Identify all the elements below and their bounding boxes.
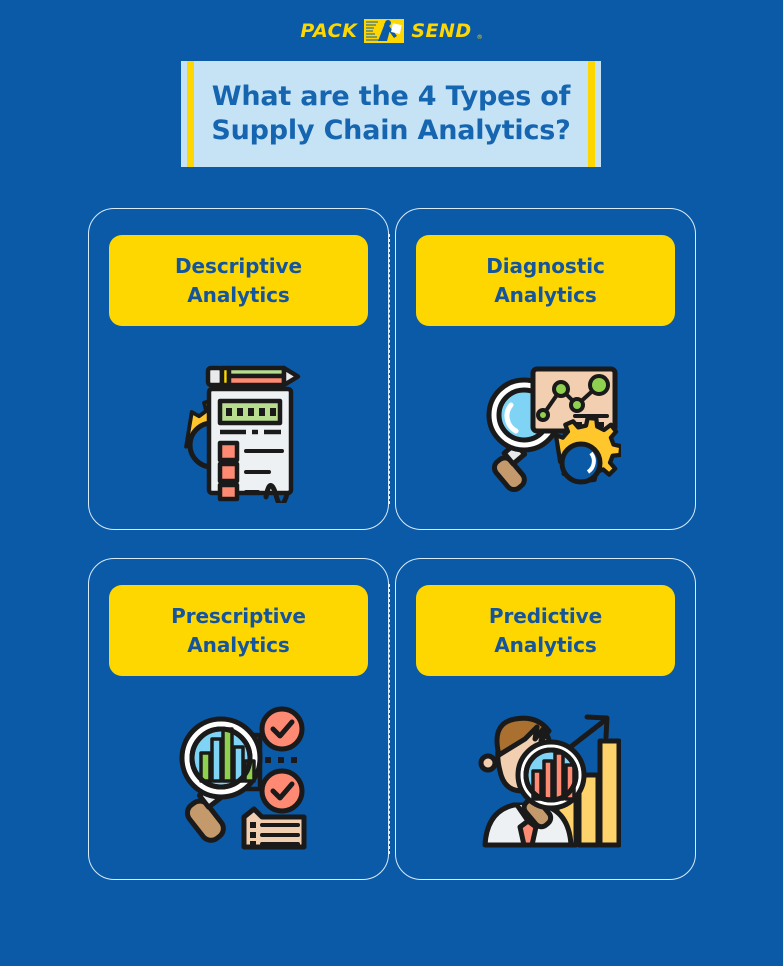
card-prescriptive[interactable]: Prescriptive Analytics (88, 558, 389, 880)
card-divider-top (389, 234, 390, 504)
label-line-1: Diagnostic (486, 254, 604, 278)
card-label-prescriptive: Prescriptive Analytics (109, 585, 368, 676)
businessman-magnifier-growth-chart-icon (471, 703, 621, 853)
magnifier-line-chart-gear-icon (471, 353, 621, 503)
analytics-card-grid: Descriptive Analytics (88, 208, 696, 880)
magnifier-bar-chart-checkmarks-list-icon (164, 703, 314, 853)
icon-area-descriptive (89, 326, 388, 529)
title-line-2: Supply Chain Analytics? (211, 115, 570, 146)
registered-trademark-mark: ® (477, 34, 483, 41)
card-predictive[interactable]: Predictive Analytics (395, 558, 696, 880)
card-label-descriptive: Descriptive Analytics (109, 235, 368, 326)
logo-word-pack: PACK (300, 20, 357, 42)
page-title: What are the 4 Types of Supply Chain Ana… (189, 80, 592, 148)
label-line-2: Analytics (187, 283, 289, 307)
card-label-diagnostic: Diagnostic Analytics (416, 235, 675, 326)
label-line-1: Prescriptive (171, 604, 306, 628)
title-banner: What are the 4 Types of Supply Chain Ana… (181, 61, 601, 167)
label-line-2: Analytics (494, 633, 596, 657)
pack-send-logo[interactable]: PACK SEND ® (300, 18, 482, 44)
label-line-1: Predictive (489, 604, 602, 628)
title-line-1: What are the 4 Types of (212, 81, 570, 112)
label-line-1: Descriptive (175, 254, 302, 278)
infographic-page: { "brand": { "word_left": "PACK", "word_… (0, 0, 783, 966)
label-line-2: Analytics (187, 633, 289, 657)
card-diagnostic[interactable]: Diagnostic Analytics (395, 208, 696, 530)
card-label-predictive: Predictive Analytics (416, 585, 675, 676)
card-divider-bottom (389, 584, 390, 854)
card-row-bottom: Prescriptive Analytics (88, 558, 696, 880)
label-line-2: Analytics (494, 283, 596, 307)
brand-logo-bar: PACK SEND ® (0, 0, 783, 62)
checklist-document-gear-pencil-icon (164, 353, 314, 503)
icon-area-predictive (396, 676, 695, 879)
icon-area-prescriptive (89, 676, 388, 879)
pack-send-courier-box-icon (364, 18, 404, 44)
card-descriptive[interactable]: Descriptive Analytics (88, 208, 389, 530)
icon-area-diagnostic (396, 326, 695, 529)
card-row-top: Descriptive Analytics (88, 208, 696, 530)
logo-word-send: SEND (411, 20, 471, 42)
